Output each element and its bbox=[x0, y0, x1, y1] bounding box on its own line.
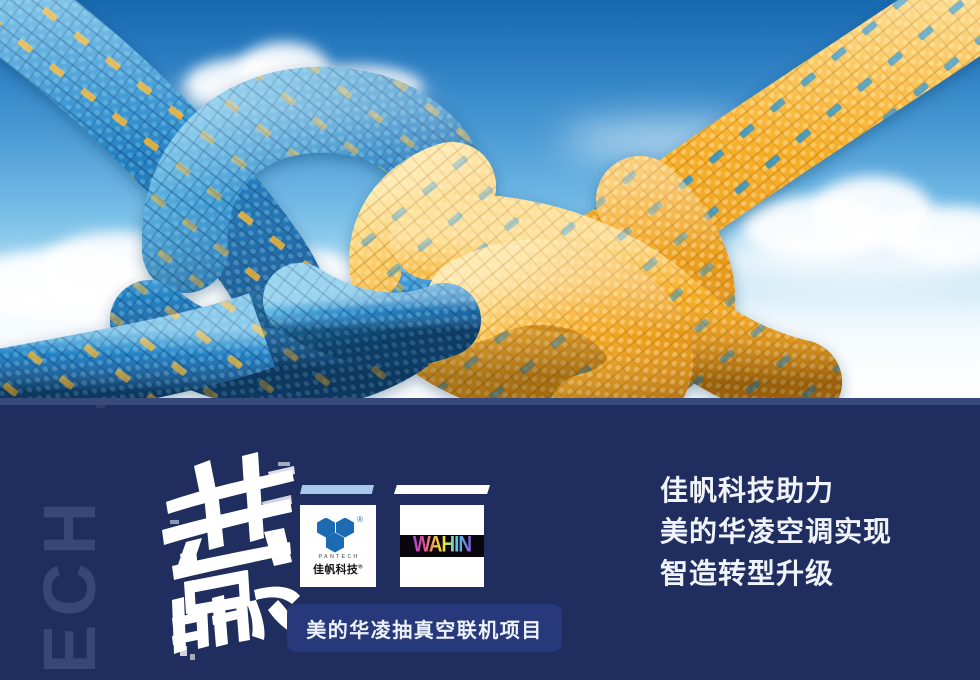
headline-line-2: 美的华凌空调实现 bbox=[660, 511, 960, 552]
headline-line-1: 佳帆科技助力 bbox=[660, 470, 960, 511]
wahin-logo: WAHIN bbox=[400, 505, 484, 587]
pantech-logo: ® PANTECH 佳帆科技® bbox=[300, 505, 376, 587]
hexagon-icon bbox=[336, 518, 354, 538]
headline-line-3: 智造转型升级 bbox=[660, 553, 960, 594]
decor-bar-left bbox=[300, 485, 374, 494]
rope-knot-illustration bbox=[0, 0, 980, 400]
decor-bar-right-slab bbox=[394, 485, 490, 494]
pantech-english-name: PANTECH bbox=[316, 554, 359, 560]
decor-bar-right bbox=[394, 485, 490, 494]
trademark-mark: ® bbox=[357, 516, 363, 524]
wahin-wordmark: WAHIN bbox=[413, 533, 471, 558]
pantech-logo-tile: ® PANTECH 佳帆科技® bbox=[300, 505, 376, 587]
watermark-tech: ECH bbox=[34, 406, 154, 674]
wahin-logo-tile: WAHIN bbox=[400, 505, 484, 587]
hexagon-cluster-icon: ® bbox=[316, 518, 360, 552]
promo-banner: ECH bbox=[0, 0, 980, 680]
pantech-chinese-name: 佳帆科技® bbox=[313, 561, 363, 577]
pantech-chinese-text: 佳帆科技 bbox=[313, 564, 358, 576]
project-badge-label: 美的华凌抽真空联机项目 bbox=[306, 614, 543, 643]
project-badge: 美的华凌抽真空联机项目 bbox=[287, 604, 562, 652]
headline: 佳帆科技助力 美的华凌空调实现 智造转型升级 bbox=[660, 470, 960, 594]
wahin-band: WAHIN bbox=[400, 535, 484, 557]
decor-bar-left-slab bbox=[300, 485, 374, 494]
pantech-trademark: ® bbox=[358, 564, 363, 570]
calligraphy-gongying bbox=[150, 450, 310, 660]
